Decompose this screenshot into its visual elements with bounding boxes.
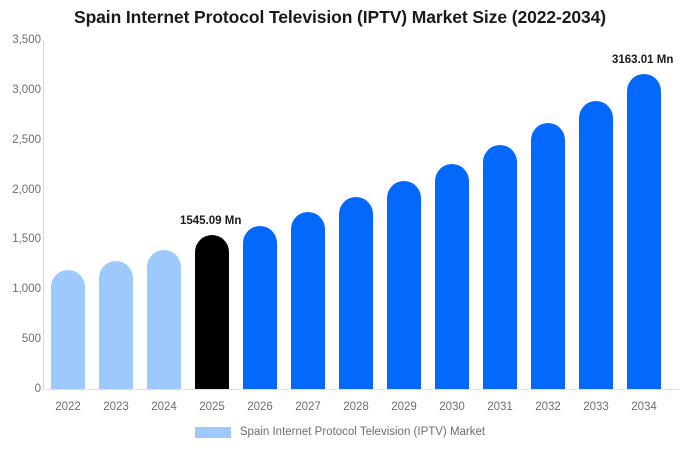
y-axis-tick-2000: 2,000	[3, 184, 41, 196]
y-axis-tick-0: 0	[3, 383, 41, 395]
x-axis-tick-2022: 2022	[44, 401, 92, 413]
y-axis-tick-1000: 1,000	[3, 283, 41, 295]
bar-2022[interactable]	[51, 270, 85, 389]
bar-2028[interactable]	[339, 197, 373, 389]
bar-2027[interactable]	[291, 212, 325, 389]
bar-2024[interactable]	[147, 250, 181, 389]
y-axis-tick-500: 500	[3, 333, 41, 345]
y-axis-tick-3500: 3,500	[3, 34, 41, 46]
x-axis-tick-2025: 2025	[188, 401, 236, 413]
x-axis-tick-2023: 2023	[92, 401, 140, 413]
legend-label: Spain Internet Protocol Television (IPTV…	[240, 426, 485, 438]
x-axis-tick-2031: 2031	[476, 401, 524, 413]
bar-2032[interactable]	[531, 123, 565, 389]
bar-2023[interactable]	[99, 261, 133, 389]
x-axis-tick-2029: 2029	[380, 401, 428, 413]
bar-2033[interactable]	[579, 101, 613, 389]
bar-2030[interactable]	[435, 164, 469, 389]
bar-2025[interactable]	[195, 235, 229, 389]
legend-swatch	[195, 427, 231, 438]
bar-2029[interactable]	[387, 181, 421, 389]
data-label-2034: 3163.01 Mn	[612, 54, 673, 66]
y-axis-tick-labels: 05001,0001,5002,0002,5003,0003,500	[0, 0, 41, 450]
y-axis-tick-1500: 1,500	[3, 233, 41, 245]
bars-layer	[43, 40, 680, 389]
y-axis-tick-3000: 3,000	[3, 84, 41, 96]
x-axis-tick-2033: 2033	[572, 401, 620, 413]
bar-2026[interactable]	[243, 226, 277, 389]
x-axis-tick-2034: 2034	[620, 401, 668, 413]
x-axis-tick-2024: 2024	[140, 401, 188, 413]
bar-2031[interactable]	[483, 145, 517, 389]
x-axis-tick-2030: 2030	[428, 401, 476, 413]
y-axis-tick-2500: 2,500	[3, 134, 41, 146]
x-axis-tick-2027: 2027	[284, 401, 332, 413]
x-axis-tick-2026: 2026	[236, 401, 284, 413]
chart-title: Spain Internet Protocol Television (IPTV…	[0, 7, 680, 28]
x-axis-tick-2028: 2028	[332, 401, 380, 413]
data-label-2025: 1545.09 Mn	[180, 215, 241, 227]
bar-2034[interactable]	[627, 74, 661, 389]
chart-container: Spain Internet Protocol Television (IPTV…	[0, 0, 680, 450]
x-axis-tick-2032: 2032	[524, 401, 572, 413]
chart-legend: Spain Internet Protocol Television (IPTV…	[0, 426, 680, 438]
x-axis-line	[43, 389, 680, 390]
